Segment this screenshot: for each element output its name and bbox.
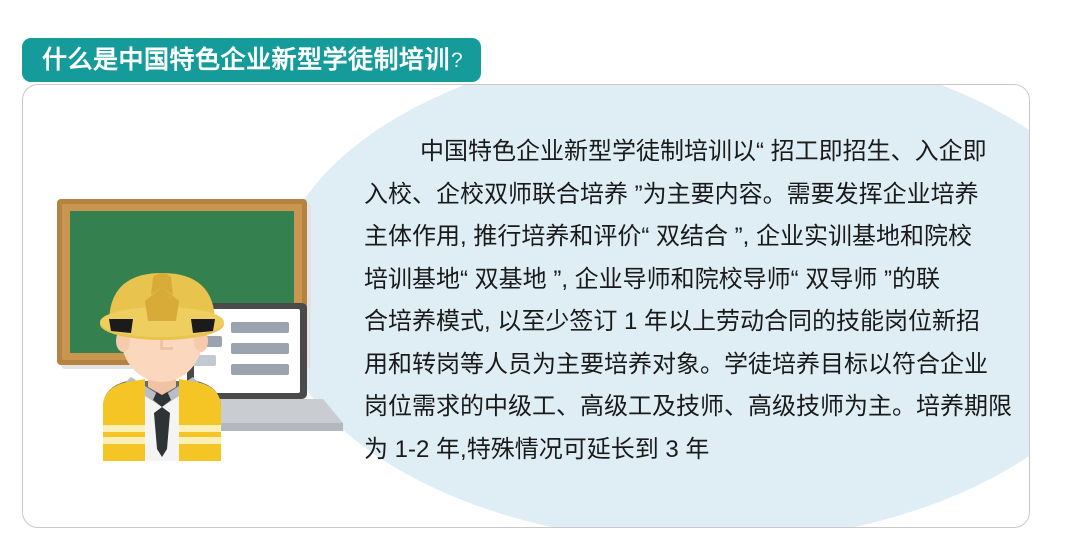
poster-page: 什么是中国特色企业新型学徒制培训 ? [0,0,1080,558]
paragraph-line: 培训基地“ 双基地 ”, 企业导师和院校导师“ 双导师 ”的联 [364,259,1014,302]
paragraph-line: 岗位需求的中级工、高级工及技师、高级技师为主。培养期限 [364,386,1014,429]
paragraph-line: 用和转岗等人员为主要培养对象。学徒培养目标以符合企业 [364,344,1014,387]
paragraph-line: 合培养模式, 以至少签订 1 年以上劳动合同的技能岗位新招 [364,301,1014,344]
paragraph-line: 为 1-2 年,特殊情况可延长到 3 年 [364,429,1014,472]
paragraph-line: 中国特色企业新型学徒制培训以“ 招工即招生、入企即 [364,131,1014,174]
section-header-badge: 什么是中国特色企业新型学徒制培训 ? [22,38,481,82]
content-card: 中国特色企业新型学徒制培训以“ 招工即招生、入企即 入校、企校双师联合培养 ”为… [22,84,1030,528]
worker-classroom-illustration [45,191,345,461]
page-title: 什么是中国特色企业新型学徒制培训 [42,48,450,73]
paragraph-line: 主体作用, 推行培养和评价“ 双结合 ”, 企业实训基地和院校 [364,216,1014,259]
body-paragraph: 中国特色企业新型学徒制培训以“ 招工即招生、入企即 入校、企校双师联合培养 ”为… [364,131,1014,471]
question-mark: ? [451,50,463,71]
paragraph-line: 入校、企校双师联合培养 ”为主要内容。需要发挥企业培养 [364,174,1014,217]
